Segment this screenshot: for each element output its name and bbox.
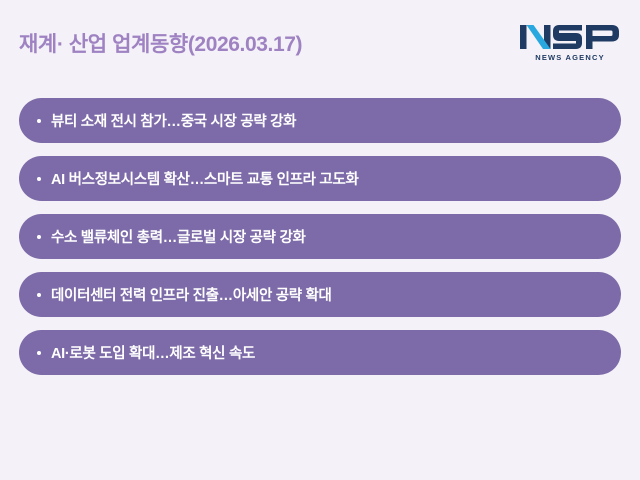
headline-text: 데이터센터 전력 인프라 진출…아세안 공략 확대 (51, 284, 621, 305)
bullet-icon (37, 235, 41, 239)
headline-item[interactable]: AI 버스정보시스템 확산…스마트 교통 인프라 고도화 (19, 156, 621, 201)
headline-text: 뷰티 소재 전시 참가…중국 시장 공략 강화 (51, 110, 621, 131)
headline-item[interactable]: AI·로봇 도입 확대…제조 혁신 속도 (19, 330, 621, 375)
headline-text: 수소 밸류체인 총력…글로벌 시장 공략 강화 (51, 226, 621, 247)
headline-item[interactable]: 수소 밸류체인 총력…글로벌 시장 공략 강화 (19, 214, 621, 259)
bullet-icon (37, 293, 41, 297)
headline-item[interactable]: 데이터센터 전력 인프라 진출…아세안 공략 확대 (19, 272, 621, 317)
headline-list: 뷰티 소재 전시 참가…중국 시장 공략 강화 AI 버스정보시스템 확산…스마… (19, 98, 621, 388)
nsp-logo: NEWS AGENCY (518, 22, 622, 68)
slide-header: 재계· 산업 업계동향(2026.03.17) NEWS AGENCY (0, 0, 640, 86)
nsp-logo-icon (518, 22, 622, 52)
page-title: 재계· 산업 업계동향(2026.03.17) (19, 28, 302, 58)
bullet-icon (37, 177, 41, 181)
bullet-icon (37, 351, 41, 355)
headline-text: AI·로봇 도입 확대…제조 혁신 속도 (51, 342, 621, 363)
headline-item[interactable]: 뷰티 소재 전시 참가…중국 시장 공략 강화 (19, 98, 621, 143)
headline-text: AI 버스정보시스템 확산…스마트 교통 인프라 고도화 (51, 168, 621, 189)
slide-canvas: 재계· 산업 업계동향(2026.03.17) NEWS AGENCY 뷰티 소… (0, 0, 640, 480)
nsp-logo-tagline: NEWS AGENCY (518, 53, 622, 62)
bullet-icon (37, 119, 41, 123)
